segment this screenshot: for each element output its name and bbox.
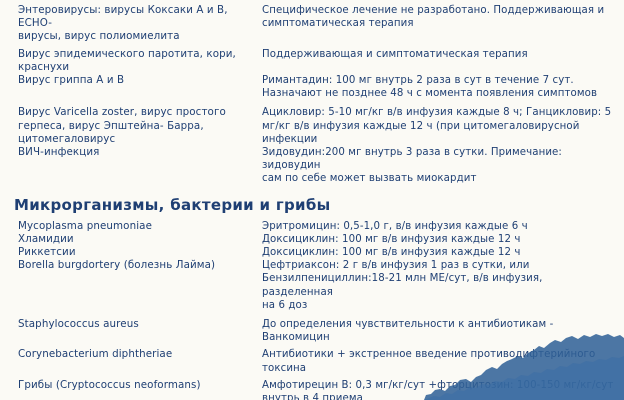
pathogen-cell: Вирус Varicella zoster, вирус простого г… (4, 106, 262, 146)
table-row: Энтеровирусы: вирусы Коксаки А и В, ECHO… (4, 4, 620, 44)
pathogen-cell: Borella burgdortery (болезнь Лайма) (4, 259, 262, 272)
treatment-label: Римантадин: 100 мг внутрь 2 раза в сут в… (262, 74, 614, 100)
pathogen-label: Хламидии (18, 233, 260, 246)
pathogen-label: Staphylococcus aureus (18, 318, 260, 331)
treatment-cell: Антибиотики + экстренное введение против… (262, 348, 620, 374)
table-row: Borella burgdortery (болезнь Лайма) Цефт… (4, 259, 620, 312)
treatment-label: Антибиотики + экстренное введение против… (262, 348, 614, 374)
treatment-cell: Цефтриаксон: 2 г в/в инфузия 1 раз в сут… (262, 259, 620, 312)
pathogen-label: ВИЧ-инфекция (18, 146, 260, 159)
table-row: Staphylococcus aureus До определения чув… (4, 318, 620, 344)
table-row: Хламидии Доксициклин: 100 мг в/в инфузия… (4, 233, 620, 246)
pathogen-label: Вирус эпидемического паротита, кори, кра… (18, 48, 260, 74)
table-row: Грибы (Cryptococcus neoformans) Амфотире… (4, 379, 620, 400)
pathogen-label: Грибы (Cryptococcus neoformans) (18, 379, 260, 392)
treatment-label: Поддерживающая и симптоматическая терапи… (262, 48, 614, 61)
pathogen-cell: Corynebacterium diphtheriae (4, 348, 262, 361)
pathogen-cell: Вирус гриппа А и В (4, 74, 262, 87)
treatment-label: Специфическое лечение не разработано. По… (262, 4, 614, 30)
table-row: Вирус гриппа А и В Римантадин: 100 мг вн… (4, 74, 620, 100)
pathogen-label: Corynebacterium diphtheriae (18, 348, 260, 361)
treatment-label: Эритромицин: 0,5-1,0 г, в/в инфузия кажд… (262, 220, 614, 233)
treatment-label: Ацикловир: 5-10 мг/кг в/в инфузия каждые… (262, 106, 614, 146)
pathogen-cell: Вирус эпидемического паротита, кори, кра… (4, 48, 262, 74)
pathogen-cell: Mycoplasma pneumoniae (4, 220, 262, 233)
treatment-cell: До определения чувствительности к антиби… (262, 318, 620, 344)
section-heading-microorganisms: Микрорганизмы, бактерии и грибы (0, 196, 624, 215)
pathogen-cell: Хламидии (4, 233, 262, 246)
table-row: ВИЧ-инфекция Зидовудин:200 мг внутрь 3 р… (4, 146, 620, 186)
treatment-cell: Зидовудин:200 мг внутрь 3 раза в сутки. … (262, 146, 620, 186)
treatment-cell: Специфическое лечение не разработано. По… (262, 4, 620, 30)
treatment-label: Доксициклин: 100 мг в/в инфузия каждые 1… (262, 233, 614, 246)
treatment-cell: Поддерживающая и симптоматическая терапи… (262, 48, 620, 61)
pathogen-label: Риккетсии (18, 246, 260, 259)
treatment-cell: Ацикловир: 5-10 мг/кг в/в инфузия каждые… (262, 106, 620, 146)
treatment-cell: Доксициклин: 100 мг в/в инфузия каждые 1… (262, 246, 620, 259)
treatment-cell: Римантадин: 100 мг внутрь 2 раза в сут в… (262, 74, 620, 100)
section-microorganisms: Mycoplasma pneumoniae Эритромицин: 0,5-1… (0, 216, 624, 400)
treatment-cell: Доксициклин: 100 мг в/в инфузия каждые 1… (262, 233, 620, 246)
pathogen-cell: Энтеровирусы: вирусы Коксаки А и В, ECHO… (4, 4, 262, 44)
treatment-cell: Амфотирецин В: 0,3 мг/кг/сут +фторцитози… (262, 379, 620, 400)
treatment-label: Цефтриаксон: 2 г в/в инфузия 1 раз в сут… (262, 259, 614, 312)
pathogen-label: Mycoplasma pneumoniae (18, 220, 260, 233)
table-row: Вирус эпидемического паротита, кори, кра… (4, 48, 620, 74)
treatment-label: Зидовудин:200 мг внутрь 3 раза в сутки. … (262, 146, 614, 186)
pathogen-cell: ВИЧ-инфекция (4, 146, 262, 159)
section-viruses: Энтеровирусы: вирусы Коксаки А и В, ECHO… (0, 0, 624, 186)
pathogen-cell: Риккетсии (4, 246, 262, 259)
table-row: Corynebacterium diphtheriae Антибиотики … (4, 348, 620, 374)
pathogen-label: Вирус гриппа А и В (18, 74, 260, 87)
treatment-label: Амфотирецин В: 0,3 мг/кг/сут +фторцитози… (262, 379, 614, 400)
table-row: Mycoplasma pneumoniae Эритромицин: 0,5-1… (4, 220, 620, 233)
slide-root: Энтеровирусы: вирусы Коксаки А и В, ECHO… (0, 0, 624, 400)
table-row: Вирус Varicella zoster, вирус простого г… (4, 106, 620, 146)
pathogen-label: Энтеровирусы: вирусы Коксаки А и В, ECHO… (18, 4, 260, 44)
treatment-label: До определения чувствительности к антиби… (262, 318, 614, 344)
table-row: Риккетсии Доксициклин: 100 мг в/в инфузи… (4, 246, 620, 259)
pathogen-cell: Грибы (Cryptococcus neoformans) (4, 379, 262, 392)
treatment-label: Доксициклин: 100 мг в/в инфузия каждые 1… (262, 246, 614, 259)
pathogen-label: Вирус Varicella zoster, вирус простого г… (18, 106, 260, 146)
pathogen-label: Borella burgdortery (болезнь Лайма) (18, 259, 260, 272)
treatment-cell: Эритромицин: 0,5-1,0 г, в/в инфузия кажд… (262, 220, 620, 233)
pathogen-cell: Staphylococcus aureus (4, 318, 262, 331)
